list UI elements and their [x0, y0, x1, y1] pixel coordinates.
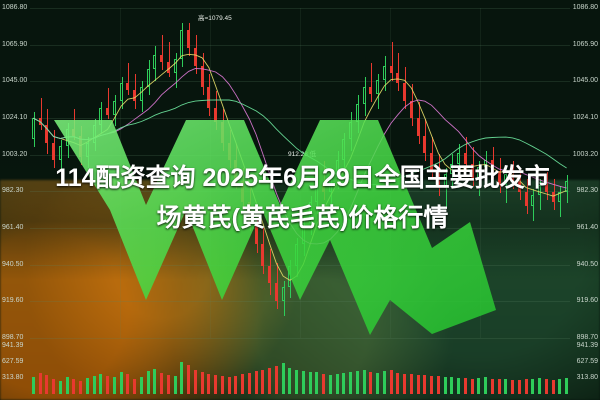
headline-line-2: 场黄芪(黄芪毛芪)价格行情	[30, 198, 575, 238]
page-title: 114配资查询 2025年6月29日全国主要批发市 场黄芪(黄芪毛芪)价格行情	[30, 158, 575, 238]
headline-line-1: 114配资查询 2025年6月29日全国主要批发市	[30, 158, 575, 198]
chart-screenshot: 1086.801086.801065.901065.901045.001045.…	[0, 0, 600, 400]
